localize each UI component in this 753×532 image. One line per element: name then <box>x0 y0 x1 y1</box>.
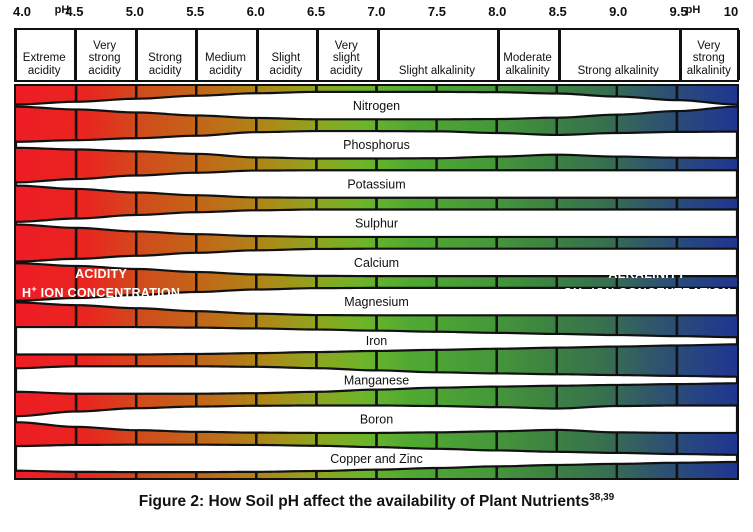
chart-svg: NitrogenPhosphorusPotassiumSulphurCalciu… <box>16 86 737 478</box>
ph-category-strong-acidity: Strongacidity <box>135 30 195 80</box>
category-label: Strong alkalinity <box>578 65 659 78</box>
category-label: Extremeacidity <box>23 52 66 77</box>
category-label: Moderatealkalinity <box>503 52 552 77</box>
ph-category-very-strong-acidity: Verystrongacidity <box>74 30 134 80</box>
category-divider <box>558 30 561 80</box>
category-label-line: Very <box>88 40 121 53</box>
ph-category-medium-acidity: Mediumacidity <box>195 30 255 80</box>
caption-reference: 38,39 <box>589 492 614 503</box>
figure-caption: Figure 2: How Soil pH affect the availab… <box>0 492 753 511</box>
category-label-line: acidity <box>148 65 182 78</box>
category-label-line: Medium <box>205 52 246 65</box>
category-label-line: acidity <box>23 65 66 78</box>
ph-category-slight-acidity: Slightacidity <box>256 30 316 80</box>
category-label: Verystrongacidity <box>88 40 121 78</box>
caption-text: Figure 2: How Soil pH affect the availab… <box>139 493 589 510</box>
nutrient-label-copper-and-zinc: Copper and Zinc <box>330 452 422 466</box>
category-divider <box>74 30 77 80</box>
category-label-line: strong <box>88 52 121 65</box>
ph-category-strong-alkalinity: Strong alkalinity <box>558 30 679 80</box>
nutrient-label-sulphur: Sulphur <box>355 217 398 231</box>
category-divider <box>195 30 198 80</box>
category-label-line: Slight alkalinity <box>399 65 475 78</box>
category-divider <box>737 30 740 80</box>
category-label-line: acidity <box>270 65 303 78</box>
ph-tick-8-0: 8.0 <box>488 4 506 19</box>
ph-tick-6-0: 6.0 <box>247 4 265 19</box>
category-divider <box>135 30 138 80</box>
category-label: Slightacidity <box>270 52 303 77</box>
ph-category-very-strong-alkalinity: Verystrongalkalinity <box>679 30 739 80</box>
ph-tick-7-0: 7.0 <box>367 4 385 19</box>
ph-category-moderate-alkalinity: Moderatealkalinity <box>497 30 557 80</box>
category-divider <box>377 30 380 80</box>
category-label: Slight alkalinity <box>399 65 475 78</box>
ph-tick-6-5: 6.5 <box>307 4 325 19</box>
category-label-line: Very <box>687 40 731 53</box>
ph-category-very-slight-acidity: Veryslightacidity <box>316 30 376 80</box>
category-label-line: acidity <box>330 65 363 78</box>
ph-tick-7-5: 7.5 <box>428 4 446 19</box>
nutrient-label-nitrogen: Nitrogen <box>353 99 400 113</box>
category-label-line: slight <box>330 52 363 65</box>
category-divider <box>497 30 500 80</box>
ph-category-slight-alkalinity: Slight alkalinity <box>377 30 498 80</box>
figure-container: 4.04.55.05.56.06.57.07.58.08.59.09.510pH… <box>0 0 753 532</box>
nutrient-availability-chart: NitrogenPhosphorusPotassiumSulphurCalciu… <box>14 84 739 480</box>
category-label: Verystrongalkalinity <box>687 40 731 78</box>
nutrient-label-magnesium: Magnesium <box>344 295 409 309</box>
category-divider <box>256 30 259 80</box>
ph-tick-5-5: 5.5 <box>186 4 204 19</box>
ph-tick-4-0: 4.0 <box>13 4 31 19</box>
ph-unit-label-right: pH <box>686 4 701 16</box>
ph-tick-5-0: 5.0 <box>126 4 144 19</box>
ph-tick-9-0: 9.0 <box>609 4 627 19</box>
ph-tick-8-5: 8.5 <box>549 4 567 19</box>
category-label-line: acidity <box>205 65 246 78</box>
category-label-line: Moderate <box>503 52 552 65</box>
category-label-line: Slight <box>270 52 303 65</box>
nutrient-label-calcium: Calcium <box>354 256 399 270</box>
nutrient-label-manganese: Manganese <box>344 373 409 387</box>
category-label: Veryslightacidity <box>330 40 363 78</box>
category-divider <box>316 30 319 80</box>
ph-axis: 4.04.55.05.56.06.57.07.58.08.59.09.510pH… <box>0 0 753 26</box>
category-label-line: alkalinity <box>687 65 731 78</box>
category-label-line: acidity <box>88 65 121 78</box>
category-label-line: alkalinity <box>503 65 552 78</box>
category-label-line: Strong <box>148 52 182 65</box>
category-divider <box>679 30 682 80</box>
category-label: Mediumacidity <box>205 52 246 77</box>
category-label-line: Strong alkalinity <box>578 65 659 78</box>
ph-category-header: ExtremeacidityVerystrongacidityStrongaci… <box>14 28 739 82</box>
nutrient-label-phosphorus: Phosphorus <box>343 138 410 152</box>
ph-unit-label-left: pH <box>55 4 70 16</box>
category-label-line: Extreme <box>23 52 66 65</box>
category-label-line: strong <box>687 52 731 65</box>
ph-category-extreme-acidity: Extremeacidity <box>14 30 74 80</box>
category-label: Strongacidity <box>148 52 182 77</box>
category-divider <box>14 30 17 80</box>
nutrient-label-potassium: Potassium <box>347 177 405 191</box>
nutrient-label-boron: Boron <box>360 413 393 427</box>
ph-tick-10: 10 <box>724 4 738 19</box>
nutrient-label-iron: Iron <box>366 334 388 348</box>
category-label-line: Very <box>330 40 363 53</box>
